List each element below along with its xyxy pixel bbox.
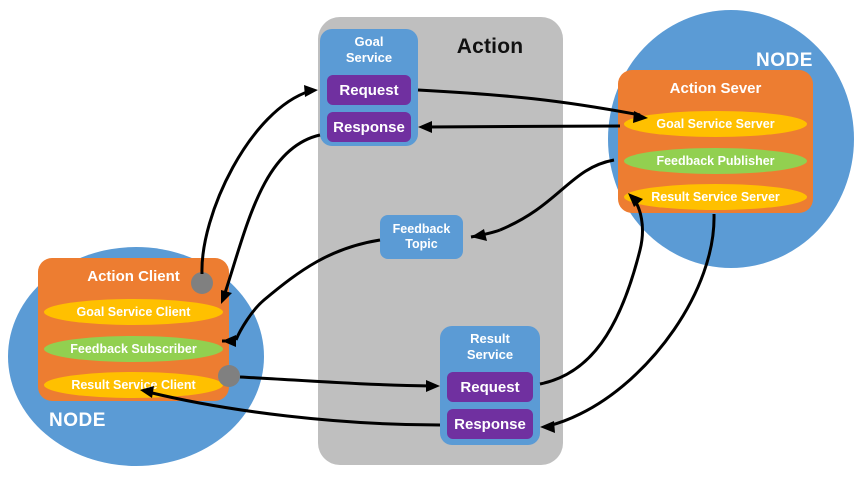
goal-service-server-pill[interactable]: Goal Service Server xyxy=(624,111,807,137)
goal-service-request-box[interactable]: Request xyxy=(327,75,411,105)
goal-service-title-line1: Goal xyxy=(355,34,384,49)
result-service-box: Result Service Request Response xyxy=(440,326,540,445)
arrow-goal-client-to-goal-request xyxy=(202,85,318,274)
feedback-topic-title-line2: Topic xyxy=(405,237,437,252)
goal-service-client-pill[interactable]: Goal Service Client xyxy=(44,299,223,325)
result-service-title: Result Service xyxy=(440,331,540,363)
goal-service-title: Goal Service xyxy=(320,34,418,66)
feedback-subscriber-pill[interactable]: Feedback Subscriber xyxy=(44,336,223,362)
result-client-connector-dot xyxy=(218,365,240,387)
result-service-request-box[interactable]: Request xyxy=(447,372,533,402)
goal-service-response-box[interactable]: Response xyxy=(327,112,411,142)
goal-client-connector-dot xyxy=(191,272,213,294)
action-group-title: Action xyxy=(440,35,540,59)
result-service-server-pill[interactable]: Result Service Server xyxy=(624,184,807,210)
diagram-canvas: Action NODE Action Sever Goal Service Se… xyxy=(0,0,854,480)
feedback-topic-title-line1: Feedback xyxy=(393,222,451,237)
action-server-box: Action Sever Goal Service Server Feedbac… xyxy=(618,70,813,213)
result-service-client-pill[interactable]: Result Service Client xyxy=(44,372,223,398)
arrow-goal-response-to-goal-client xyxy=(221,135,320,304)
action-server-node-label: NODE xyxy=(756,50,813,72)
result-service-title-line2: Service xyxy=(467,347,513,362)
feedback-topic-box[interactable]: Feedback Topic xyxy=(380,215,463,259)
feedback-publisher-pill[interactable]: Feedback Publisher xyxy=(624,148,807,174)
goal-service-box: Goal Service Request Response xyxy=(320,29,418,146)
goal-service-title-line2: Service xyxy=(346,50,392,65)
action-client-node-label: NODE xyxy=(49,410,106,432)
action-server-title: Action Sever xyxy=(618,80,813,97)
result-service-response-box[interactable]: Response xyxy=(447,409,533,439)
result-service-title-line1: Result xyxy=(470,331,510,346)
